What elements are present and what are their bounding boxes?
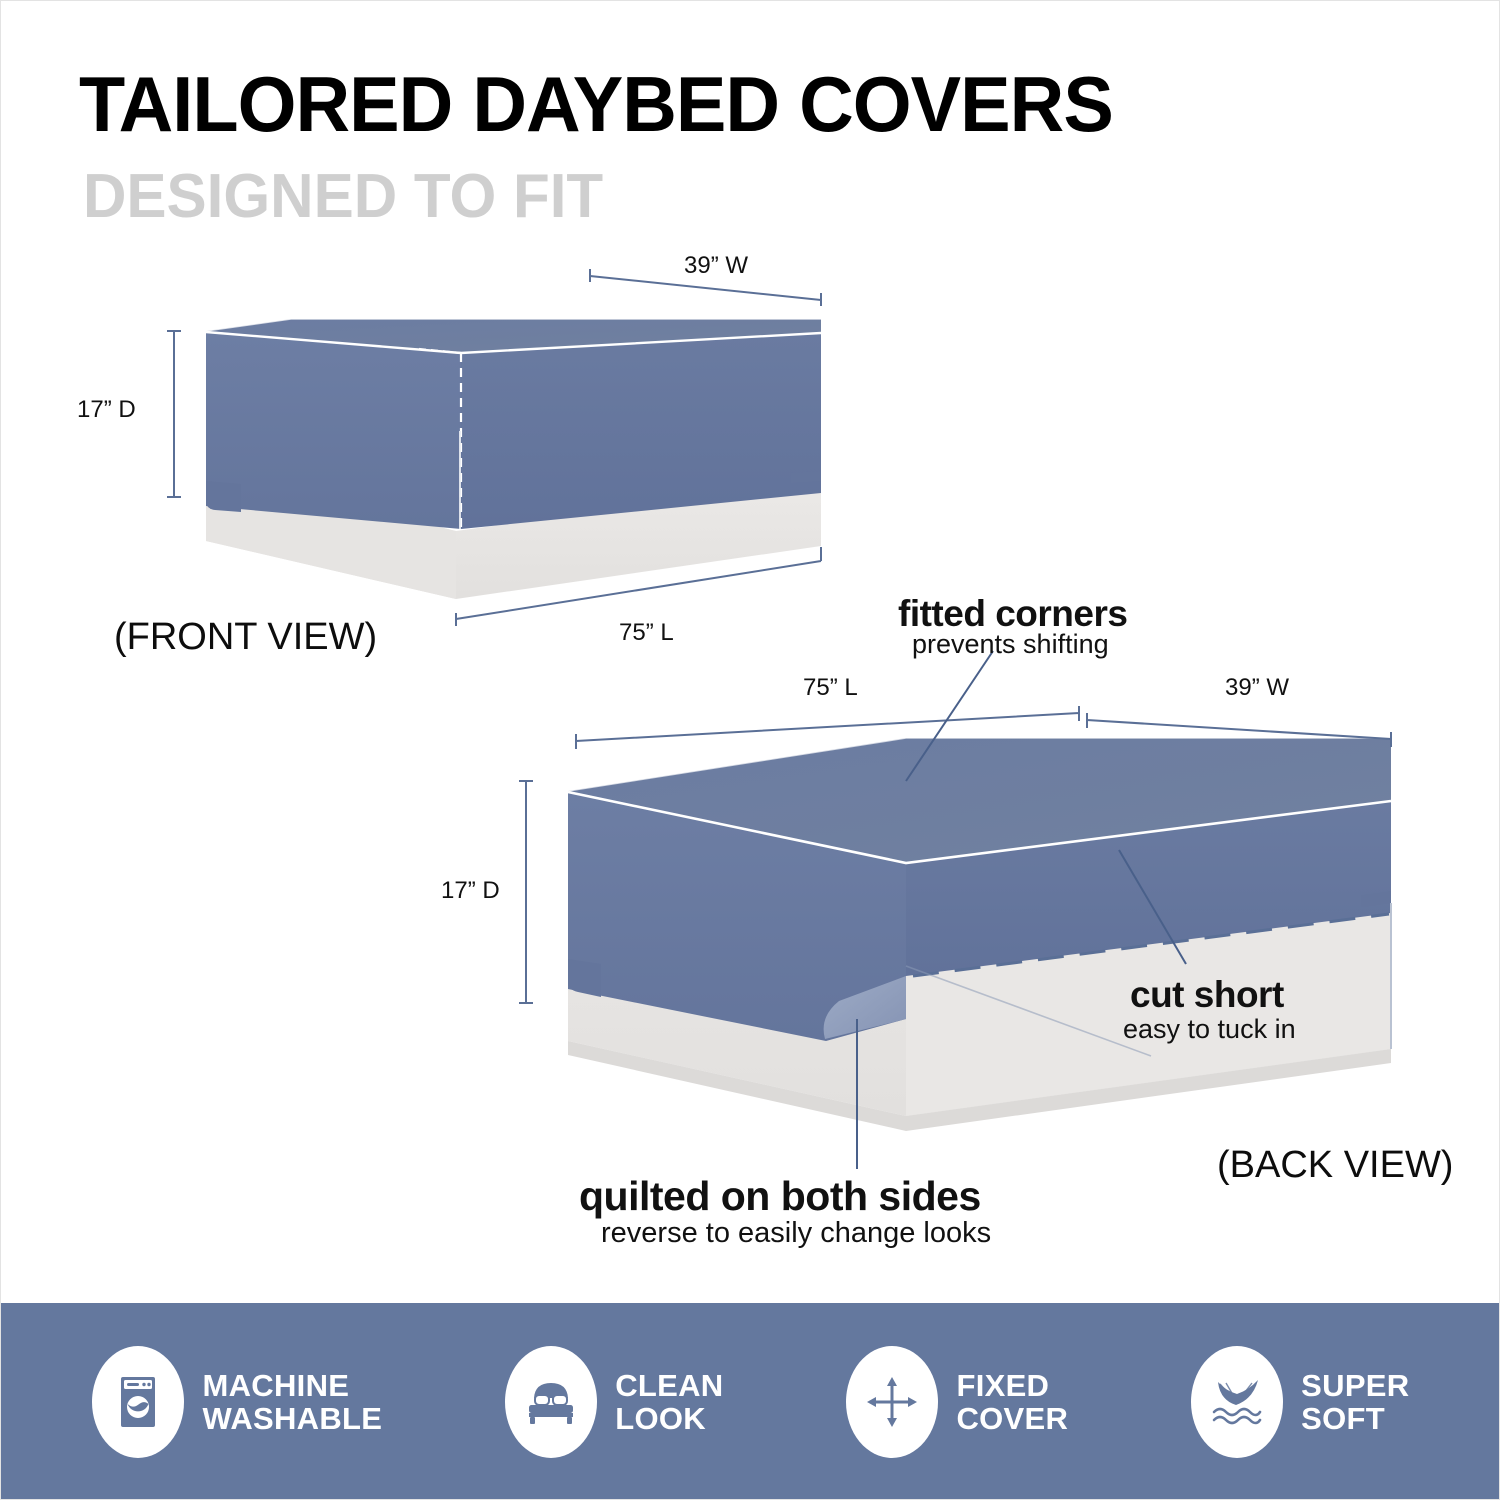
callout-leader-fitted-corners bbox=[906, 651, 993, 781]
callout-leader-cut-short bbox=[1119, 850, 1186, 964]
front-cover-hem-left bbox=[206, 481, 241, 512]
back-view-diagram bbox=[519, 651, 1391, 1169]
back-dim-length-label: 75” L bbox=[803, 674, 858, 702]
feature-clean-look: CLEAN LOOK bbox=[505, 1346, 723, 1458]
front-bed-base bbox=[206, 471, 821, 599]
back-cover-right-face bbox=[906, 801, 1391, 976]
feather-waves-icon bbox=[1206, 1374, 1268, 1430]
feature-super-soft: SUPER SOFT bbox=[1191, 1346, 1409, 1458]
front-view-label: (FRONT VIEW) bbox=[114, 616, 377, 659]
back-cover-left-face bbox=[568, 791, 906, 1041]
back-dim-length-line bbox=[576, 706, 1079, 749]
front-cover-left-face bbox=[206, 331, 461, 529]
back-view-label: (BACK VIEW) bbox=[1217, 1144, 1453, 1187]
feature-badge bbox=[92, 1346, 184, 1458]
front-cover-back-edge-highlight bbox=[206, 319, 821, 331]
feature-label: MACHINE WASHABLE bbox=[202, 1369, 382, 1436]
washing-machine-icon bbox=[113, 1373, 163, 1431]
callout-quilted-title: quilted on both sides bbox=[579, 1173, 981, 1220]
back-cover-hem-right-round bbox=[1361, 891, 1391, 907]
back-stitch-dashed-line bbox=[913, 914, 1389, 976]
back-cover-corner-fold bbox=[824, 976, 906, 1039]
callout-quilted-subtitle: reverse to easily change looks bbox=[601, 1217, 991, 1250]
feature-badge bbox=[1191, 1346, 1283, 1458]
front-cover-right-face bbox=[461, 333, 821, 529]
back-dim-depth-label: 17” D bbox=[441, 877, 500, 905]
front-dim-depth-line bbox=[167, 331, 181, 497]
front-cover-corner-seam-dashed bbox=[419, 349, 461, 353]
front-dim-width-label: 39” W bbox=[684, 252, 748, 280]
feature-label: SUPER SOFT bbox=[1301, 1369, 1409, 1436]
back-cover-top bbox=[568, 738, 1391, 863]
front-dim-length-label: 75” L bbox=[619, 619, 674, 647]
infographic-page: TAILORED DAYBED COVERS DESIGNED TO FIT bbox=[0, 0, 1500, 1500]
front-dim-length-line bbox=[456, 547, 821, 626]
back-bed-right-face bbox=[906, 801, 1391, 1116]
feature-label: CLEAN LOOK bbox=[615, 1369, 723, 1436]
callout-fitted-corners-subtitle: prevents shifting bbox=[912, 629, 1109, 660]
back-dim-width-line bbox=[1087, 713, 1391, 747]
feature-label: FIXED COVER bbox=[956, 1369, 1068, 1436]
front-view-diagram bbox=[167, 269, 821, 626]
front-cover-top-edge-highlight bbox=[206, 332, 821, 353]
four-arrows-icon bbox=[863, 1373, 921, 1431]
page-subtitle: DESIGNED TO FIT bbox=[83, 161, 603, 232]
feature-banner: MACHINE WASHABLE CLEAN LOOK bbox=[1, 1303, 1500, 1500]
back-bed-diagonal-guide bbox=[906, 966, 1151, 1056]
back-cover-hem-left-round bbox=[568, 959, 601, 997]
feature-machine-washable: MACHINE WASHABLE bbox=[92, 1346, 382, 1458]
feature-badge bbox=[846, 1346, 938, 1458]
back-dim-depth-line bbox=[519, 781, 533, 1003]
back-cover-top-front-edge bbox=[568, 792, 1391, 863]
page-title: TAILORED DAYBED COVERS bbox=[79, 59, 1113, 150]
feature-fixed-cover: FIXED COVER bbox=[846, 1346, 1068, 1458]
callout-cut-short-title: cut short bbox=[1130, 974, 1284, 1016]
back-bed-body bbox=[568, 791, 1391, 1116]
callout-cut-short-subtitle: easy to tuck in bbox=[1123, 1014, 1296, 1045]
bed-icon bbox=[522, 1376, 580, 1428]
front-cover-top bbox=[206, 319, 821, 353]
back-dim-width-label: 39” W bbox=[1225, 674, 1289, 702]
back-cover-top-back-edge bbox=[568, 738, 1391, 791]
feature-badge bbox=[505, 1346, 597, 1458]
front-dim-depth-label: 17” D bbox=[77, 396, 136, 424]
front-cover-hem-right bbox=[791, 471, 821, 483]
back-bed-bottom-shade bbox=[568, 1041, 1391, 1131]
front-bed-base-left bbox=[206, 471, 456, 599]
